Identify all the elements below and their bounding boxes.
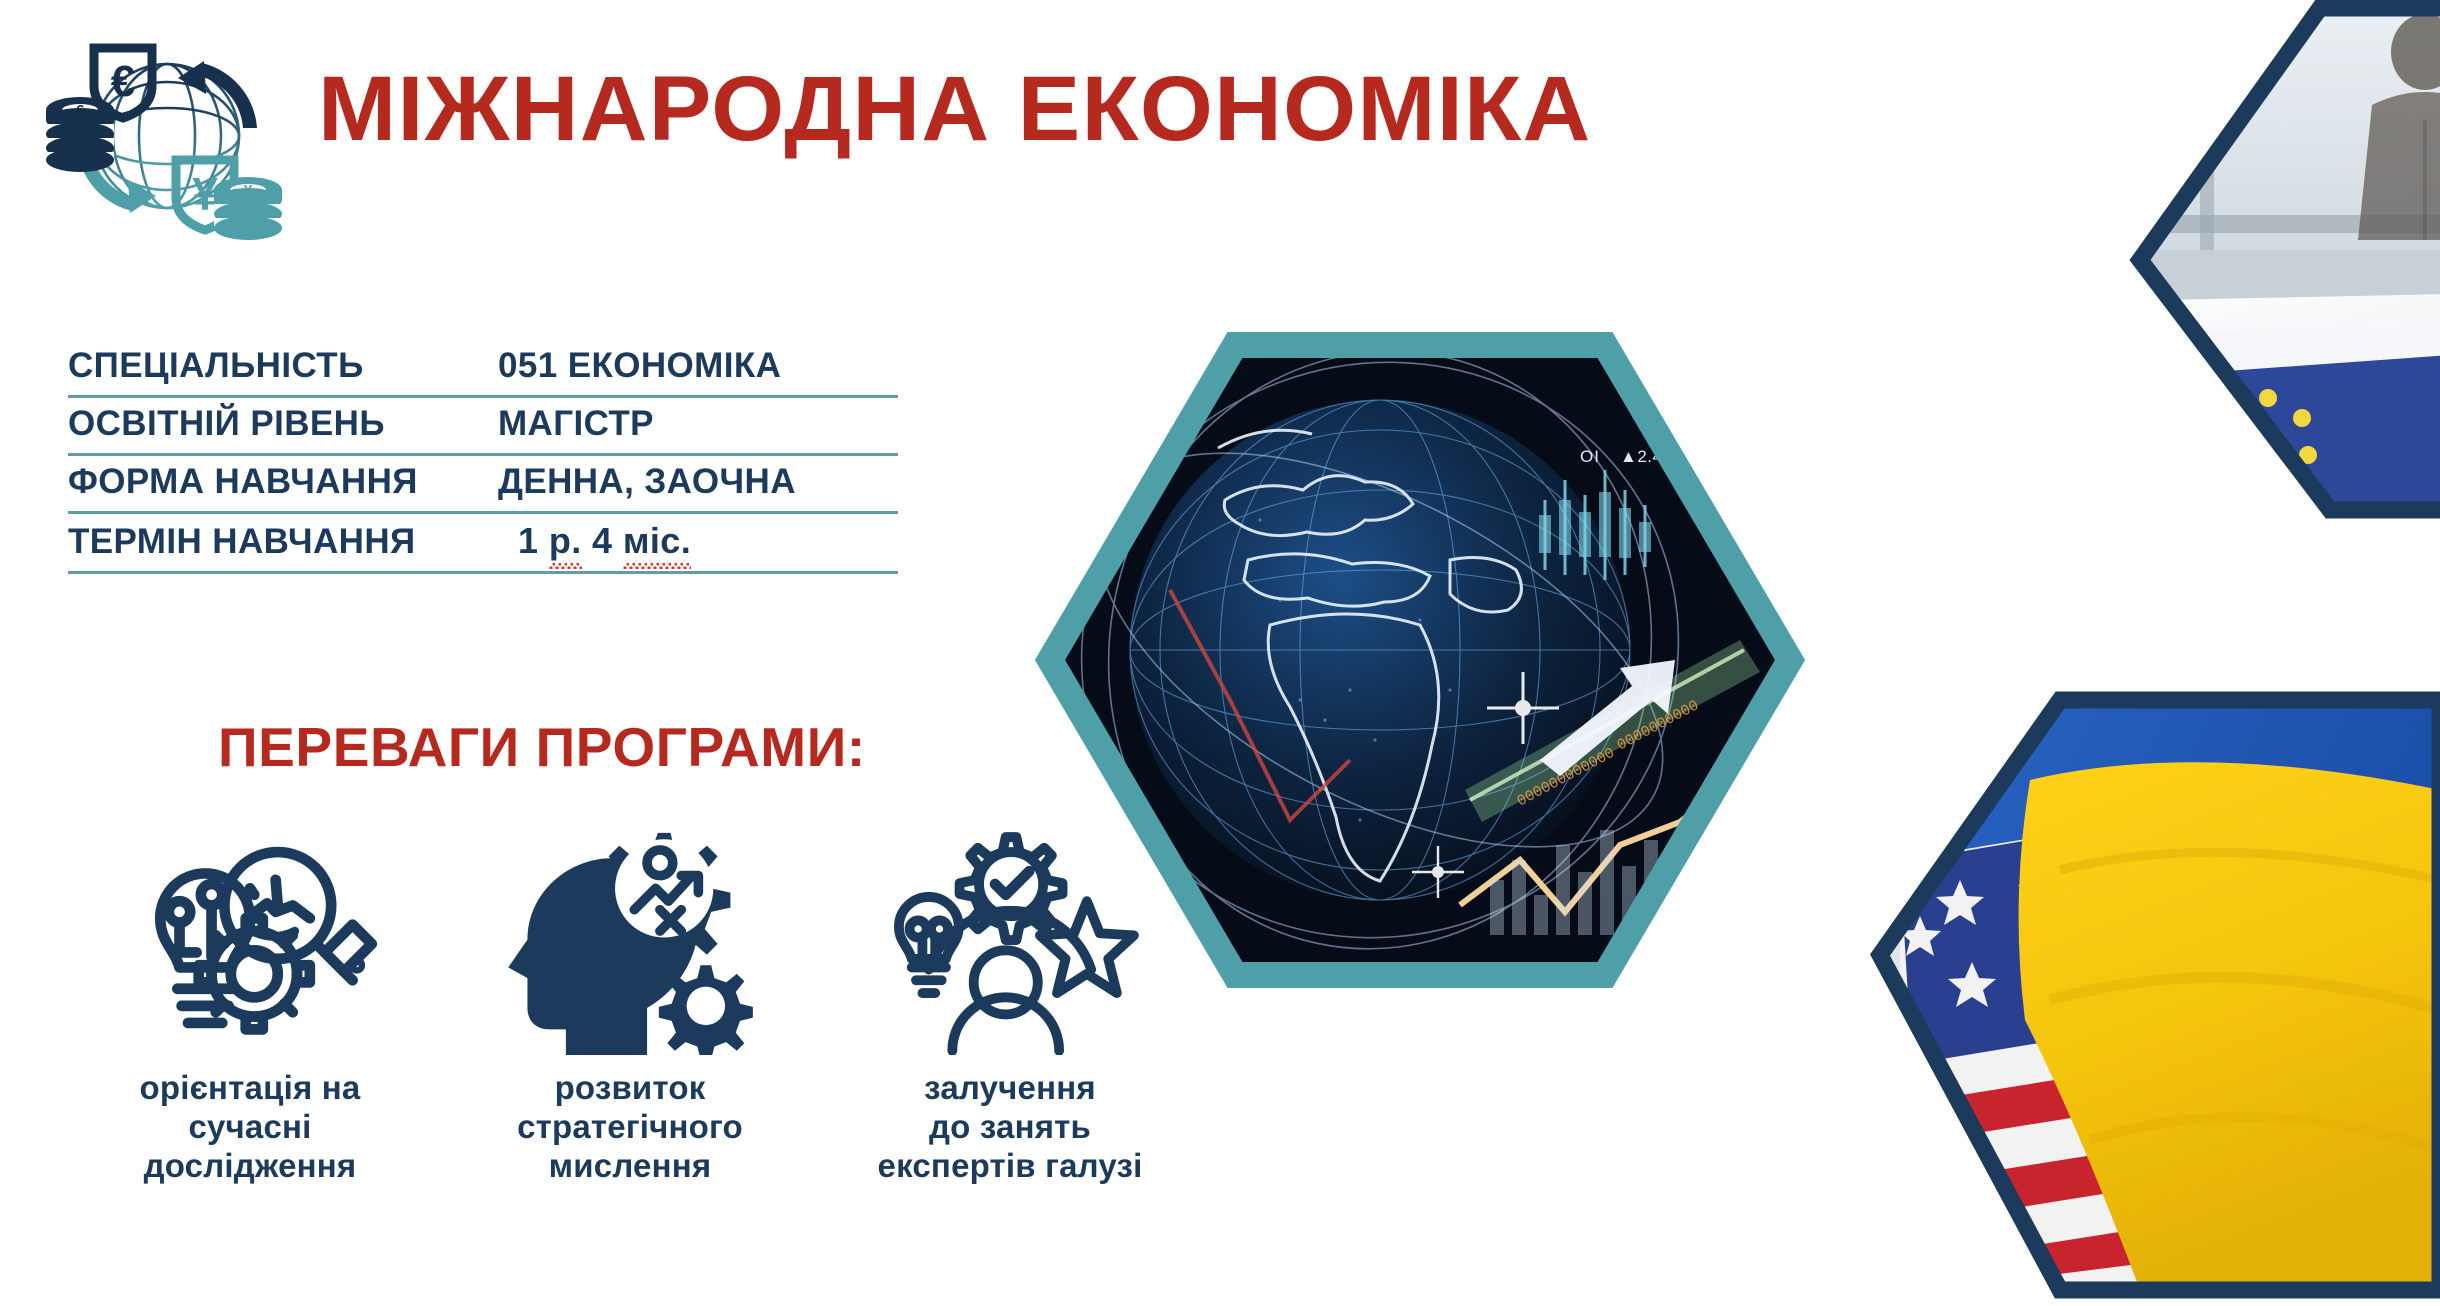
caption-line: стратегічного <box>517 1108 743 1147</box>
program-info-table: СПЕЦІАЛЬНІСТЬ 051 ЕКОНОМІКА ОСВІТНІЙ РІВ… <box>68 340 898 574</box>
svg-text:000000000000: 000000000000 <box>1514 745 1617 811</box>
list-item: залучення до занять експертів галузі <box>820 820 1200 1186</box>
globe-currency-exchange-logo: € € ¥ ¥ <box>34 18 294 243</box>
term-months-misspelled: міс. <box>623 520 691 562</box>
caption-line: до занять <box>878 1108 1143 1147</box>
poster-root: € € ¥ ¥ <box>0 0 2440 1306</box>
benefit-caption: залучення до занять експертів галузі <box>878 1069 1143 1186</box>
hexagon-collage: CONTRA <box>1020 0 2440 1306</box>
benefits-heading: ПЕРЕВАГИ ПРОГРАМИ: <box>218 715 866 779</box>
term-gap: 4 <box>582 520 623 561</box>
hexagon-flags <box>1860 690 2440 1306</box>
head-gear-strategy-icon <box>495 820 765 1055</box>
euro-symbol: € <box>111 57 135 106</box>
contract-word: CONTRA <box>2403 484 2440 567</box>
info-value: 051 ЕКОНОМІКА <box>498 346 781 386</box>
info-value-term: 1 р. 4 міс. <box>498 520 691 562</box>
svg-text:0000000000: 0000000000 <box>1614 697 1701 754</box>
caption-line: дослідження <box>140 1147 361 1186</box>
term-years-misspelled: р. <box>549 520 582 562</box>
caption-line: орієнтація на <box>140 1069 361 1108</box>
table-row: СПЕЦІАЛЬНІСТЬ 051 ЕКОНОМІКА <box>68 340 898 398</box>
caption-line: залучення <box>878 1069 1143 1108</box>
info-label: ОСВІТНІЙ РІВЕНЬ <box>68 404 498 444</box>
person-lightbulb-star-expert-icon <box>875 820 1145 1055</box>
ticker-value: ▲2.45 <box>1620 447 1672 466</box>
benefits-list: орієнтація на сучасні дослідження <box>60 820 1210 1186</box>
ticker-label: OI <box>1580 447 1600 466</box>
list-item: орієнтація на сучасні дослідження <box>60 820 440 1186</box>
caption-line: експертів галузі <box>878 1147 1143 1186</box>
hexagon-business-contract: CONTRA <box>2120 0 2440 567</box>
info-label: ТЕРМІН НАВЧАННЯ <box>68 522 498 562</box>
caption-line: мислення <box>517 1147 743 1186</box>
hexagon-flags-border <box>1880 700 2440 1290</box>
list-item: розвиток стратегічного мислення <box>440 820 820 1186</box>
caption-line: сучасні <box>140 1108 361 1147</box>
hexagon-business-contract-border <box>2140 8 2440 510</box>
table-row: ФОРМА НАВЧАННЯ ДЕННА, ЗАОЧНА <box>68 456 898 514</box>
info-label: СПЕЦІАЛЬНІСТЬ <box>68 346 498 386</box>
table-row: ОСВІТНІЙ РІВЕНЬ МАГІСТР <box>68 398 898 456</box>
info-label: ФОРМА НАВЧАННЯ <box>68 462 498 502</box>
page-title: МІЖНАРОДНА ЕКОНОМІКА <box>318 57 1592 162</box>
table-row: ТЕРМІН НАВЧАННЯ 1 р. 4 міс. <box>68 514 898 574</box>
info-value: ДЕННА, ЗАОЧНА <box>498 462 796 502</box>
info-value: МАГІСТР <box>498 404 654 444</box>
caption-line: розвиток <box>517 1069 743 1108</box>
lightbulb-magnifier-gear-icon <box>115 820 385 1055</box>
term-number: 1 <box>518 520 549 561</box>
benefit-caption: орієнтація на сучасні дослідження <box>140 1069 361 1186</box>
benefit-caption: розвиток стратегічного мислення <box>517 1069 743 1186</box>
